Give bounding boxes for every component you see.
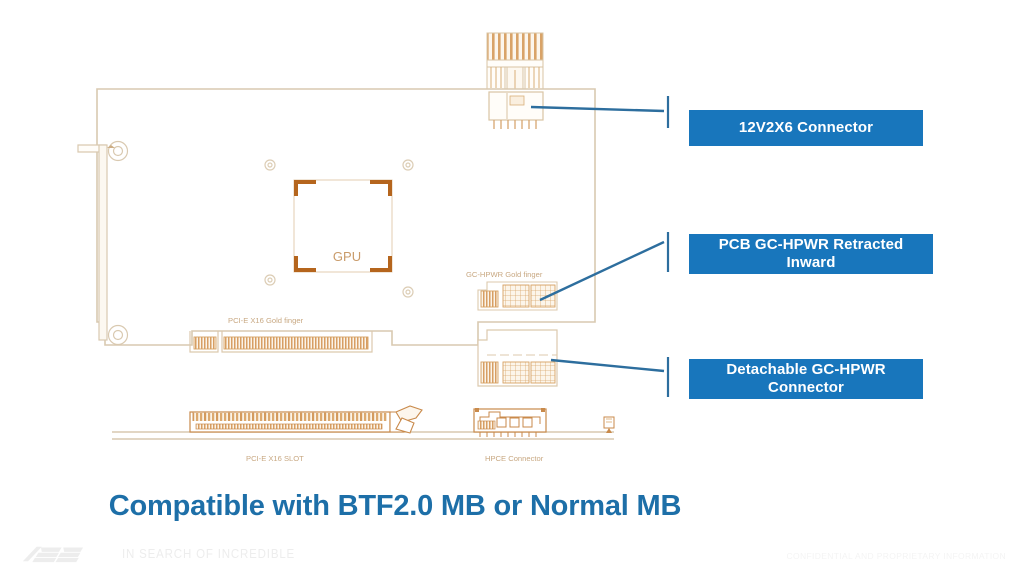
slide-footer: IN SEARCH OF INCREDIBLE CONFIDENTIAL AND… [0, 534, 1024, 576]
callout-line-2: Connector [768, 379, 844, 396]
asus-tagline: IN SEARCH OF INCREDIBLE [122, 547, 295, 561]
slide-headline: Compatible with BTF2.0 MB or Normal MB [0, 490, 790, 523]
pcie-x16-slot-label: PCI-E X16 SLOT [246, 454, 304, 463]
callout-detachable-gc-hpwr-text: Detachable GC-HPWR Connector [726, 361, 885, 396]
callout-12v2x6[interactable]: 12V2X6 Connector [689, 110, 923, 146]
callout-line-1: PCB GC-HPWR Retracted [719, 236, 904, 253]
pcie-x16-slot: PCI-E X16 SLOT [190, 406, 422, 463]
pcie-x16-gold-finger-label: PCI-E X16 Gold finger [228, 316, 304, 325]
callout-line-2: Inward [787, 254, 836, 271]
callout-pcb-gc-hpwr-text: PCB GC-HPWR Retracted Inward [719, 236, 904, 271]
pcie-x16-gold-finger [190, 331, 392, 352]
hpce-connector-label: HPCE Connector [485, 454, 544, 463]
confidential-notice: CONFIDENTIAL AND PROPRIETARY INFORMATION [787, 551, 1006, 561]
asus-logo [22, 544, 108, 564]
gpu-die-label: GPU [333, 249, 361, 264]
board-edge-marker [604, 417, 614, 433]
gpu-die: GPU [294, 180, 392, 272]
detachable-gc-hpwr-connector [478, 330, 557, 386]
slide-canvas: GPU GC-HPWR Gold finger [0, 0, 1024, 576]
callout-line-1: Detachable GC-HPWR [726, 361, 885, 378]
motherboard-plane [112, 432, 614, 439]
callout-12v2x6-text: 12V2X6 Connector [739, 119, 873, 137]
detached-12v2x6-plug [487, 33, 543, 93]
hpce-connector: HPCE Connector [474, 408, 546, 463]
callout-detachable-gc-hpwr[interactable]: Detachable GC-HPWR Connector [689, 359, 923, 399]
gc-hpwr-gold-finger-label: GC-HPWR Gold finger [466, 270, 543, 279]
callout-pcb-gc-hpwr[interactable]: PCB GC-HPWR Retracted Inward [689, 234, 933, 274]
